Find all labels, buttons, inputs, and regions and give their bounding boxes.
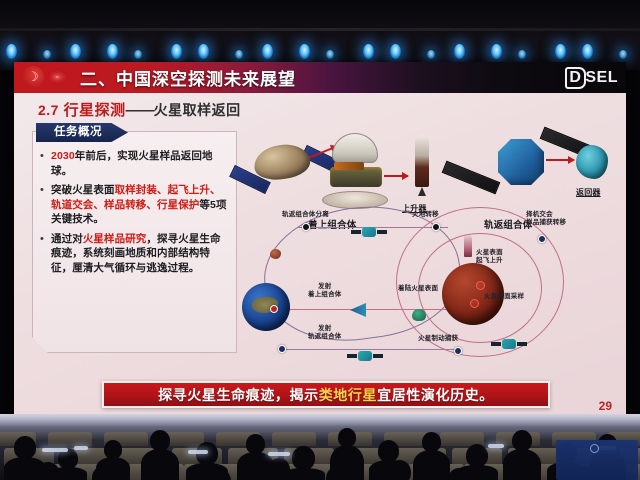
dsel-logo-text: SEL xyxy=(585,69,618,86)
bullet-item: •突破火星表面取样封装、起飞上升、轨道交会、样品转移、行星保护等5项关键技术。 xyxy=(40,183,230,227)
craft-wing-right-3 xyxy=(373,354,383,358)
task-overview-bullet-list: •2030年前后，实现火星样品返回地球。•突破火星表面取样封装、起飞上升、轨道交… xyxy=(40,149,230,280)
lander-descent-icon xyxy=(412,309,426,321)
ascender-illustration xyxy=(412,135,432,197)
banner-plain-text: 探寻火星生命痕迹，揭示 xyxy=(158,387,319,403)
stage-light xyxy=(491,44,502,59)
orbiter-craft-launch xyxy=(358,351,372,361)
galaxy-swirl-icon xyxy=(50,66,74,88)
task-overview-tab: 任务概况 xyxy=(36,123,128,142)
audience-head xyxy=(510,458,534,480)
label-returner: 返回器 xyxy=(576,187,601,198)
conference-photo: ☽ 二、中国深空探测未来展望 DSEL 2.7 行星探测——火星取样返回 任务概… xyxy=(0,0,640,480)
bullet-text: 通过对火星样品研究，探寻火星生命痕迹，系统刻画地质和内部结构特征，厘清大气循环与… xyxy=(51,232,230,276)
device-screen-glow xyxy=(268,452,290,456)
craft-wing-right xyxy=(377,230,387,234)
stage-light xyxy=(235,50,243,59)
audience-head xyxy=(36,462,60,480)
device-screen-glow xyxy=(42,448,68,452)
bullet-plain: 年前后，实现火星样品返回地球。 xyxy=(51,150,213,177)
audience-head xyxy=(512,430,532,451)
slide-title-number: 2.7 xyxy=(38,102,59,118)
audience-head xyxy=(246,434,265,454)
label-separation: 轨返组合体分离 xyxy=(282,211,329,219)
moon-icon: ☽ xyxy=(22,66,44,88)
node-launch-landing xyxy=(270,305,278,313)
slide-title: 2.7 行星探测——火星取样返回 xyxy=(38,99,241,120)
launch-track-landing xyxy=(272,309,462,310)
node-mars-capture xyxy=(454,347,462,355)
bullet-text: 突破火星表面取样封装、起飞上升、轨道交会、样品转移、行星保护等5项关键技术。 xyxy=(51,183,230,227)
bullet-highlight: 2030 xyxy=(51,150,75,162)
stage-light xyxy=(107,44,118,59)
stage-floor-glow xyxy=(0,414,640,426)
audience-head xyxy=(292,446,315,470)
dsel-logo: DSEL xyxy=(565,67,618,89)
craft-wing-right-2 xyxy=(517,342,527,346)
craft-wing-left-3 xyxy=(347,354,357,358)
craft-wing-left-2 xyxy=(491,342,501,346)
device-screen-glow xyxy=(188,450,208,454)
stage-light xyxy=(326,50,334,59)
craft-wing-left xyxy=(351,230,361,234)
seat xyxy=(48,432,92,446)
bullet-text: 2030年前后，实现火星样品返回地球。 xyxy=(51,149,230,178)
audience-shoulders xyxy=(413,450,449,480)
audience-head xyxy=(14,436,36,459)
lighting-truss xyxy=(0,28,640,31)
summary-banner-text: 探寻火星生命痕迹，揭示类地行星宜居性演化历史。 xyxy=(158,385,494,405)
ascent-vehicle-icon xyxy=(464,235,472,257)
bullet-item: •2030年前后，实现火星样品返回地球。 xyxy=(40,149,230,178)
mission-profile-diagram: 轨返组合体分离 火地转移 择机交会 样品捕获转移 火星表面 起飞上升 火星表面采… xyxy=(246,213,618,359)
earth-illustration xyxy=(242,283,290,331)
label-mars-earth-transfer: 火地转移 xyxy=(412,211,439,219)
label-launch-landing-stack: 发射 着上组合体 xyxy=(308,283,342,298)
stage-light xyxy=(299,44,310,59)
stage-light xyxy=(619,50,627,59)
banner-gold-text: 类地行星 xyxy=(319,387,377,403)
side-panel-ring-icon xyxy=(590,444,599,453)
slide-body: 2.7 行星探测——火星取样返回 任务概况 •2030年前后，实现火星样品返回地… xyxy=(14,93,626,417)
label-surface-sampling: 火星表面采样 xyxy=(484,293,524,301)
landing-site-marker-a xyxy=(476,281,485,290)
stage-light xyxy=(70,44,81,59)
audience-head xyxy=(150,430,170,451)
bullet-highlight: 火星样品研究 xyxy=(83,233,147,245)
arrow-orbiter-to-returner xyxy=(546,159,574,161)
device-screen-glow xyxy=(74,446,88,450)
page-number: 29 xyxy=(599,399,612,413)
audience-head xyxy=(268,458,290,480)
side-display-panel xyxy=(556,440,638,480)
stage-light xyxy=(262,44,273,59)
ceiling-backdrop xyxy=(0,0,640,70)
presentation-slide: ☽ 二、中国深空探测未来展望 DSEL 2.7 行星探测——火星取样返回 任务概… xyxy=(14,62,626,417)
slide-title-sub: 火星取样返回 xyxy=(154,102,241,118)
summary-banner: 探寻火星生命痕迹，揭示类地行星宜居性演化历史。 xyxy=(102,381,550,408)
stage-light xyxy=(555,44,566,59)
label-ascent: 火星表面 起飞上升 xyxy=(476,249,503,264)
label-mars-capture: 火星制动捕获 xyxy=(418,335,458,343)
seat xyxy=(272,432,316,446)
node-launch-orbit xyxy=(278,345,286,353)
orbiter-craft-capture xyxy=(502,339,516,349)
node-separation xyxy=(302,223,310,231)
node-rendezvous xyxy=(538,235,546,243)
slide-title-main: 行星探测 xyxy=(64,102,126,119)
stage-light xyxy=(363,44,374,59)
audience-head xyxy=(148,460,171,480)
audience-head xyxy=(422,432,441,452)
stage-light xyxy=(454,44,465,59)
stage-light xyxy=(43,50,51,59)
audience-head xyxy=(378,440,399,462)
stage-light xyxy=(518,50,526,59)
bullet-marker: • xyxy=(40,183,51,227)
orbiter-craft-transfer xyxy=(362,227,376,237)
bullet-plain: 通过对 xyxy=(51,233,83,245)
stage-light xyxy=(582,44,593,59)
ascender-nozzle xyxy=(418,187,426,196)
orbit-return-stack-illustration xyxy=(498,139,544,185)
stage-light xyxy=(427,50,435,59)
audience-head xyxy=(466,444,488,467)
return-capsule-illustration xyxy=(576,145,608,179)
landing-site-marker-b xyxy=(470,299,479,308)
device-screen-glow xyxy=(488,444,504,448)
stage-light xyxy=(134,50,142,59)
stage-light xyxy=(198,44,209,59)
bullet-marker: • xyxy=(40,149,51,178)
node-transfer xyxy=(432,223,440,231)
dsel-logo-mark: D xyxy=(565,67,586,89)
slide-header: ☽ 二、中国深空探测未来展望 DSEL xyxy=(14,62,626,93)
stage-light xyxy=(171,44,182,59)
ascender-body xyxy=(415,135,429,187)
sample-container-icon xyxy=(270,249,281,259)
banner-plain-text: 宜居性演化历史。 xyxy=(377,387,494,403)
bullet-marker: • xyxy=(40,232,51,276)
entry-capsule-illustration xyxy=(332,133,378,163)
stage-light xyxy=(390,44,401,59)
bullet-item: •通过对火星样品研究，探寻火星生命痕迹，系统刻画地质和内部结构特征，厘清大气循环… xyxy=(40,232,230,276)
stage-light xyxy=(6,44,17,59)
orbiter-wing-left xyxy=(442,161,501,195)
slide-header-title: 二、中国深空探测未来展望 xyxy=(80,65,296,90)
audience-head xyxy=(388,460,411,480)
slide-title-dash: —— xyxy=(126,102,154,119)
landing-stack-illustration xyxy=(252,141,312,182)
rover-illustration xyxy=(330,167,382,187)
launch-track-orbit xyxy=(280,349,458,350)
label-landing: 着陆火星表面 xyxy=(398,285,438,293)
label-launch-orbit-stack: 发射 轨返组合体 xyxy=(308,325,342,340)
label-rendezvous: 择机交会 样品捕获转移 xyxy=(526,211,566,226)
bullet-plain: 突破火星表面 xyxy=(51,184,115,196)
arrow-rover-to-ascender xyxy=(384,175,408,177)
